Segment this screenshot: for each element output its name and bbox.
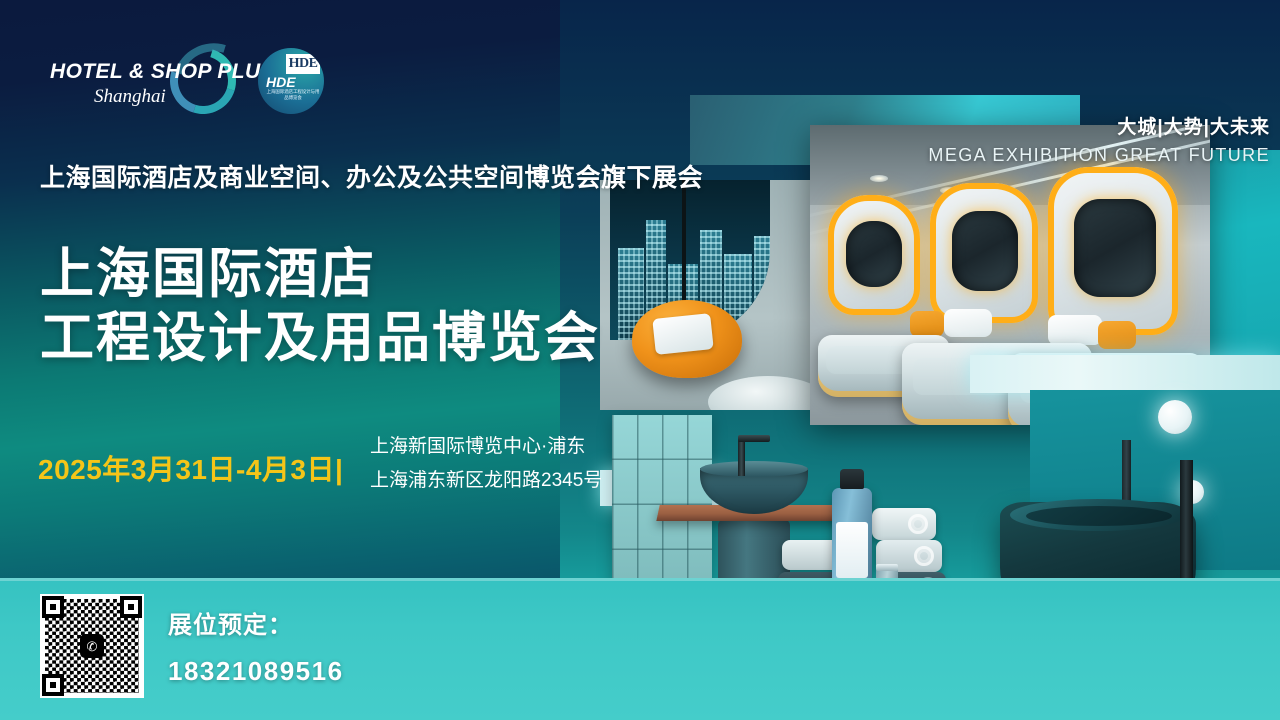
logo-city: Shanghai xyxy=(94,86,166,108)
faucet xyxy=(738,440,745,476)
title-line-1: 上海国际酒店 xyxy=(40,242,600,306)
rolled-towel xyxy=(872,508,936,540)
event-date: 2025年3月31日-4月3日| xyxy=(38,448,343,488)
wechat-qr-code[interactable]: ✆ xyxy=(40,594,144,698)
hde-chinese-name: 上海国际酒店工程设计与用品博览会 xyxy=(265,90,321,102)
round-ottoman xyxy=(708,376,810,410)
qr-finder-bottomleft xyxy=(42,674,64,696)
bottle-label xyxy=(836,522,868,578)
booking-label: 展位预定： xyxy=(168,605,344,640)
white-pillow xyxy=(1048,315,1102,345)
booking-block: ✆ 展位预定： 18321089516 xyxy=(40,594,344,698)
qr-finder-topright xyxy=(120,596,142,618)
floor-edge-highlight xyxy=(0,578,1280,581)
city-view-room xyxy=(600,180,810,410)
parent-exhibition-subhead: 上海国际酒店及商业空间、办公及公共空间博览会旗下展会 xyxy=(40,158,703,194)
wechat-icon: ✆ xyxy=(80,634,104,658)
page-title: 上海国际酒店 工程设计及用品博览会 xyxy=(40,242,600,370)
amber-pillow xyxy=(910,311,944,337)
promo-banner: HOTEL & SHOP PLUS Shanghai HDE HDE 上海国际酒… xyxy=(0,0,1280,720)
bottle-cap xyxy=(840,469,864,489)
floor-lamp-globe xyxy=(1158,400,1192,434)
booking-contact: 展位预定： 18321089516 xyxy=(168,605,344,687)
white-pillow xyxy=(944,309,992,337)
venue-line-1: 上海新国际博览中心·浦东 xyxy=(370,430,602,464)
hde-monogram: HDE xyxy=(286,54,320,74)
white-cushion xyxy=(652,313,713,355)
slogan: 大城|大势|大未来 MEGA EXHIBITION GREAT FUTURE xyxy=(928,112,1270,166)
orange-beanbag-chair xyxy=(632,300,742,378)
hde-wordmark: HDE xyxy=(266,74,296,90)
venue-line-2: 上海浦东新区龙阳路2345号 xyxy=(370,464,602,498)
sleeping-capsule xyxy=(930,183,1038,323)
glowing-light-slab xyxy=(970,355,1280,393)
hotel-shop-plus-logo: HOTEL & SHOP PLUS Shanghai xyxy=(42,44,242,118)
amber-pillow xyxy=(1098,321,1136,349)
sleeping-capsule xyxy=(1048,167,1178,335)
logo-lockup: HOTEL & SHOP PLUS Shanghai HDE HDE 上海国际酒… xyxy=(42,44,324,118)
qr-finder-topleft xyxy=(42,596,64,618)
event-venue: 上海新国际博览中心·浦东 上海浦东新区龙阳路2345号 xyxy=(370,430,602,498)
booking-phone[interactable]: 18321089516 xyxy=(168,656,344,687)
slogan-chinese: 大城|大势|大未来 xyxy=(928,112,1270,139)
bathtub-faucet xyxy=(1180,460,1193,585)
title-line-2: 工程设计及用品博览会 xyxy=(40,306,600,370)
sleeping-capsule xyxy=(828,195,920,315)
logo-wordmark: HOTEL & SHOP PLUS xyxy=(50,60,275,84)
hde-logo: HDE HDE 上海国际酒店工程设计与用品博览会 xyxy=(258,48,324,114)
slogan-english: MEGA EXHIBITION GREAT FUTURE xyxy=(928,145,1270,166)
